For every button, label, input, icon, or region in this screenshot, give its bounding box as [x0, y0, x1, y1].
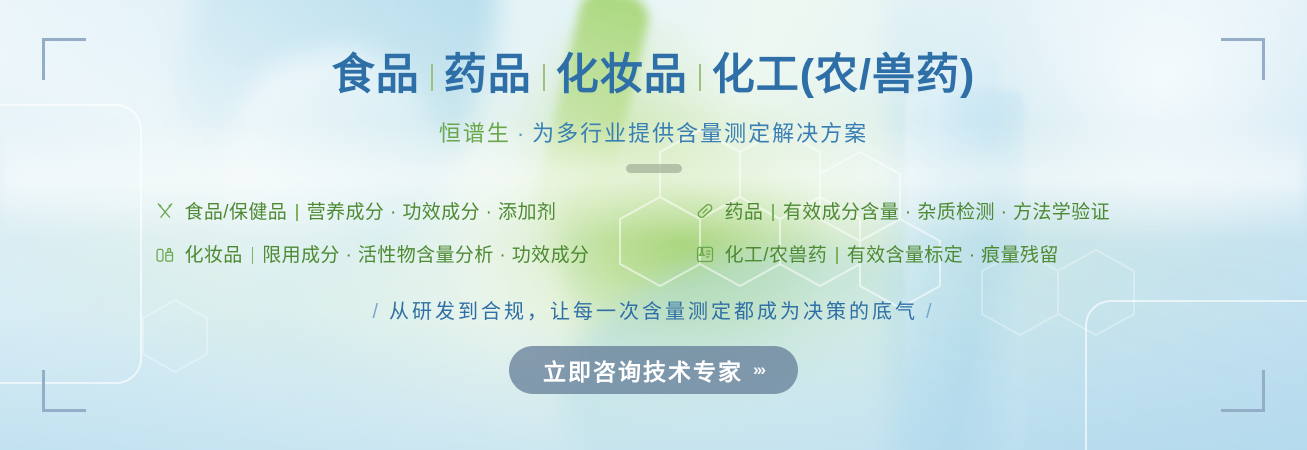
- feature-category-drug: 药品: [725, 197, 764, 224]
- feature-items-cosmetics: 限用成分 · 活性物含量分析 · 功效成分: [262, 240, 589, 267]
- feature-category-food: 食品/保健品: [185, 197, 288, 224]
- feature-items-food: 营养成分 · 功效成分 · 添加剂: [307, 197, 557, 224]
- feature-category-cosmetics: 化妆品: [185, 240, 243, 267]
- feature-items-drug: 有效成分含量 · 杂质检测 · 方法学验证: [783, 197, 1110, 224]
- subtitle-dot: ·: [517, 121, 526, 146]
- page-title: 食品 药品 化妆品 化工(农/兽药): [332, 54, 976, 97]
- feature-item-cosmetics: 化妆品 限用成分 · 活性物含量分析 · 功效成分: [154, 240, 694, 267]
- title-separator-2: [543, 64, 545, 91]
- chevrons-right-icon: ›››: [753, 360, 764, 380]
- cta-label: 立即咨询技术专家: [543, 353, 743, 387]
- subtitle-text: 为多行业提供含量测定解决方案: [532, 121, 868, 146]
- feature-item-chemical: 化工/农兽药 有效含量标定 · 痕量残留: [694, 240, 1154, 267]
- subtitle: 恒谱生·为多行业提供含量测定解决方案: [439, 116, 868, 148]
- feature-items-chemical: 有效含量标定 · 痕量残留: [847, 240, 1059, 267]
- capsule-pill-icon: [694, 200, 716, 222]
- consult-expert-button[interactable]: 立即咨询技术专家 ›››: [509, 346, 798, 394]
- promotional-banner: 食品 药品 化妆品 化工(农/兽药) 恒谱生·为多行业提供含量测定解决方案: [0, 0, 1307, 450]
- title-part-chemical: 化工(农/兽药): [712, 54, 976, 97]
- title-separator-3: [699, 64, 701, 91]
- brand-name: 恒谱生: [439, 121, 511, 146]
- feature-divider-cosmetics: [252, 247, 254, 264]
- tagline-slash-right: /: [926, 301, 935, 323]
- tagline-slash-left: /: [372, 301, 381, 323]
- cosmetic-bottles-icon: [154, 243, 176, 265]
- title-separator-1: [431, 64, 433, 91]
- feature-item-drug: 药品 有效成分含量 · 杂质检测 · 方法学验证: [694, 197, 1154, 224]
- feature-divider-chemical: [836, 247, 838, 264]
- fork-knife-icon: [154, 200, 176, 222]
- feature-category-chemical: 化工/农兽药: [725, 240, 828, 267]
- feature-divider-drug: [772, 204, 774, 221]
- tagline: /从研发到合规，让每一次含量测定都成为决策的底气/: [364, 295, 942, 324]
- title-part-cosmetics: 化妆品: [556, 54, 688, 97]
- title-part-food: 食品: [332, 54, 420, 97]
- chemical-flask-icon: [694, 243, 716, 265]
- feature-divider-food: [296, 204, 298, 221]
- title-divider: [626, 164, 682, 173]
- feature-grid: 食品/保健品 营养成分 · 功效成分 · 添加剂 药品 有效成分含量 · 杂质检…: [154, 197, 1154, 267]
- tagline-text: 从研发到合规，让每一次含量测定都成为决策的底气: [389, 301, 918, 323]
- banner-content: 食品 药品 化妆品 化工(农/兽药) 恒谱生·为多行业提供含量测定解决方案: [0, 0, 1307, 450]
- title-part-drug: 药品: [444, 54, 532, 97]
- feature-item-food: 食品/保健品 营养成分 · 功效成分 · 添加剂: [154, 197, 694, 224]
